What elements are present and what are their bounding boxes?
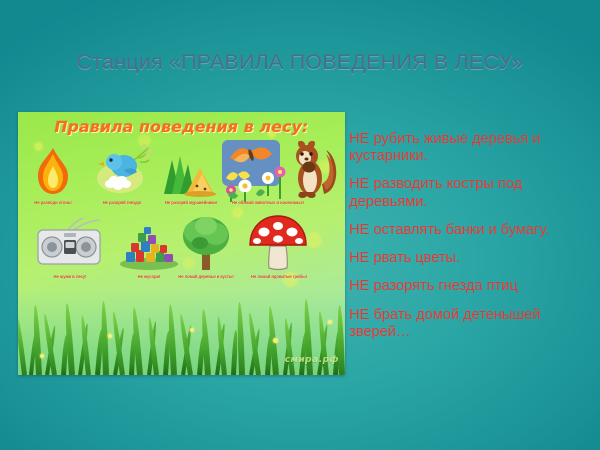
anthill-icon <box>160 142 220 200</box>
light-dot <box>108 334 112 338</box>
bird-nest-icon <box>90 142 154 200</box>
rules-list: НЕ рубить живые деревья и кустарники. НЕ… <box>349 131 593 341</box>
poster-heading: Правила поведения в лесу: <box>18 118 345 136</box>
rule-item: НЕ разводить костры под деревьями. <box>349 176 593 210</box>
poster-caption: Не ломай ядовитые грибы! <box>244 274 314 280</box>
watermark: смира.рф <box>285 355 339 365</box>
light-dot <box>40 354 44 358</box>
poster-cell-bird-nest <box>90 142 154 204</box>
rule-item: НЕ рубить живые деревья и кустарники. <box>349 131 593 165</box>
boombox-icon <box>34 218 106 270</box>
poster-cell-mushroom <box>246 212 310 274</box>
light-dot <box>328 320 332 324</box>
butterflies-flowers-icon <box>218 138 290 202</box>
campfire-icon <box>24 142 82 200</box>
rule-item: НЕ разорять гнезда птиц <box>349 278 593 295</box>
light-dot <box>273 338 278 343</box>
poster-caption: Не разводи огонь! <box>20 200 86 206</box>
slide-canvas: Станция «ПРАВИЛА ПОВЕДЕНИЯ В ЛЕСУ» Прави… <box>0 0 600 450</box>
forest-rules-poster: Правила поведения в лесу: Не разводи ого… <box>18 112 345 375</box>
poster-cell-squirrel <box>290 140 342 204</box>
poster-caption: Не разоряй гнезда! <box>87 200 157 206</box>
rule-item: НЕ рвать цветы. <box>349 250 593 267</box>
poster-cell-butterflies <box>218 138 290 204</box>
rule-item: НЕ брать домой детенышей зверей… <box>349 307 593 341</box>
poster-caption: Не мусори! <box>122 274 176 280</box>
trash-pile-icon <box>118 224 180 270</box>
poster-cell-boombox <box>34 218 106 272</box>
poster-cell-campfire <box>24 142 82 204</box>
poster-cell-tree <box>178 212 236 274</box>
light-dot <box>190 328 194 332</box>
page-title: Станция «ПРАВИЛА ПОВЕДЕНИЯ В ЛЕСУ» <box>0 50 600 75</box>
poster-caption: Не шуми в лесу! <box>32 274 108 280</box>
poster-cell-anthill <box>160 142 220 204</box>
squirrel-icon <box>290 140 342 202</box>
rule-item: НЕ оставлять банки и бумагу. <box>349 222 593 239</box>
poster-caption: Не ломай деревья и кусты! <box>170 274 242 280</box>
fly-agaric-mushroom-icon <box>246 212 310 272</box>
poster-cell-trash <box>118 224 180 272</box>
tree-icon <box>178 212 236 272</box>
